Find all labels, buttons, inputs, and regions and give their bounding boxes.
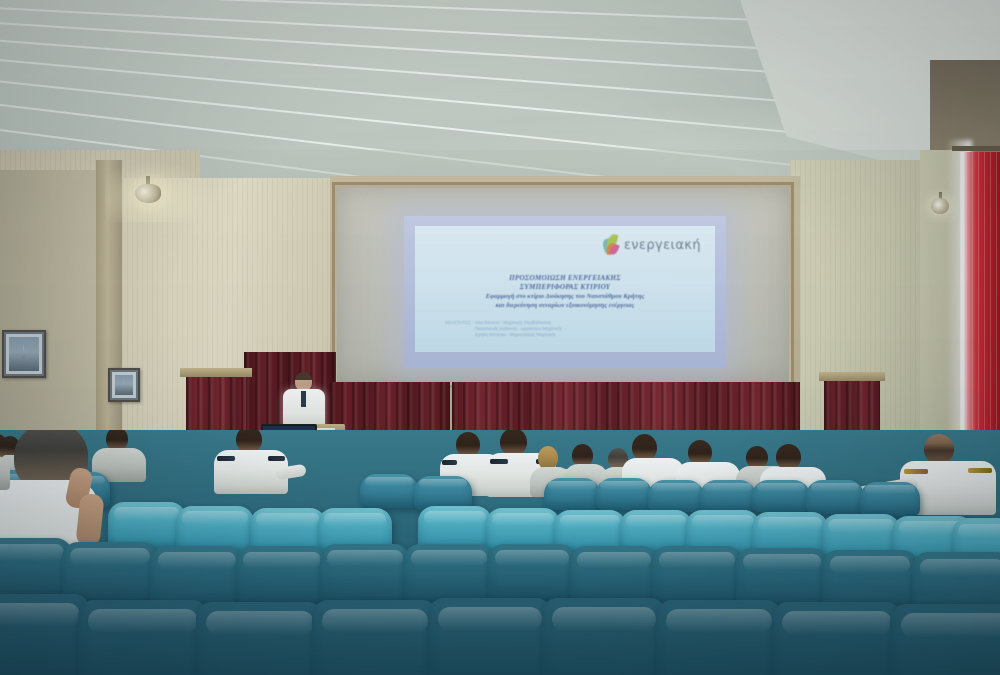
slide-authors-label: ΜΕΛΕΤΗΤΕΣ: [445, 320, 472, 325]
slide-logo-text: ενεργειακή [624, 238, 701, 253]
seat [542, 598, 666, 675]
seat [570, 546, 658, 606]
seat [360, 474, 418, 508]
seat [772, 602, 902, 675]
slide-title-line2: ΣΥΜΠΕΡΙΦΟΡΑΣ ΚΤΙΡΙΟΥ [415, 283, 715, 292]
seat [806, 480, 864, 514]
seat [488, 544, 576, 604]
leaf-flame-logo-icon [601, 234, 621, 256]
seat [652, 546, 742, 608]
slide-subtitle-line1: Εφαρμογή στο κτίριο Διοίκησης του Ναυστά… [415, 293, 715, 302]
slide-author-3: Ειρήνη Μπούσια - Μηχανολόγος Μηχανικός [475, 332, 695, 338]
wall-sconce-light [131, 176, 165, 206]
slide-logo: ενεργειακή [601, 234, 701, 256]
left-wall-shadow [0, 170, 96, 470]
slide-authors: ΜΕΛΕΤΗΤΕΣ: Λίνα Βουτετά - Μηχανικός Περι… [445, 320, 695, 338]
slide-subtitle-line2: και διερεύνηση σεναρίων εξοικονόμησης εν… [415, 302, 715, 311]
seat [700, 480, 756, 512]
seat [596, 478, 652, 510]
seat [544, 478, 600, 510]
auditorium-photo: ενεργειακή ΠΡΟΣΟΜΟΙΩΣΗ ΕΝΕΡΓΕΙΑΚΗΣ ΣΥΜΠΕ… [0, 0, 1000, 675]
seat [648, 480, 704, 512]
slide-title: ΠΡΟΣΟΜΟΙΩΣΗ ΕΝΕΡΓΕΙΑΚΗΣ ΣΥΜΠΕΡΙΦΟΡΑΣ ΚΤΙ… [415, 274, 715, 292]
seat [0, 594, 90, 675]
slide-subtitle: Εφαρμογή στο κτίριο Διοίκησης του Ναυστά… [415, 293, 715, 310]
framed-ship-painting-2 [108, 368, 140, 402]
auditorium-seating [0, 430, 1000, 675]
seat [320, 544, 410, 606]
seat [196, 602, 324, 675]
seat [404, 544, 494, 606]
presenter-at-podium [283, 372, 325, 428]
seat [414, 476, 472, 510]
seat [860, 482, 920, 516]
presentation-slide: ενεργειακή ΠΡΟΣΟΜΟΙΩΣΗ ΕΝΕΡΓΕΙΑΚΗΣ ΣΥΜΠΕ… [415, 226, 715, 352]
seat [428, 598, 552, 675]
seat [656, 600, 782, 675]
seat [236, 546, 328, 608]
framed-ship-painting [2, 330, 46, 378]
seat [752, 480, 810, 512]
slide-title-line1: ΠΡΟΣΟΜΟΙΩΣΗ ΕΝΕΡΓΕΙΑΚΗΣ [415, 274, 715, 283]
seat [312, 600, 438, 675]
seat [78, 600, 208, 675]
seat [890, 604, 1000, 675]
curtain-rod [952, 146, 1000, 151]
